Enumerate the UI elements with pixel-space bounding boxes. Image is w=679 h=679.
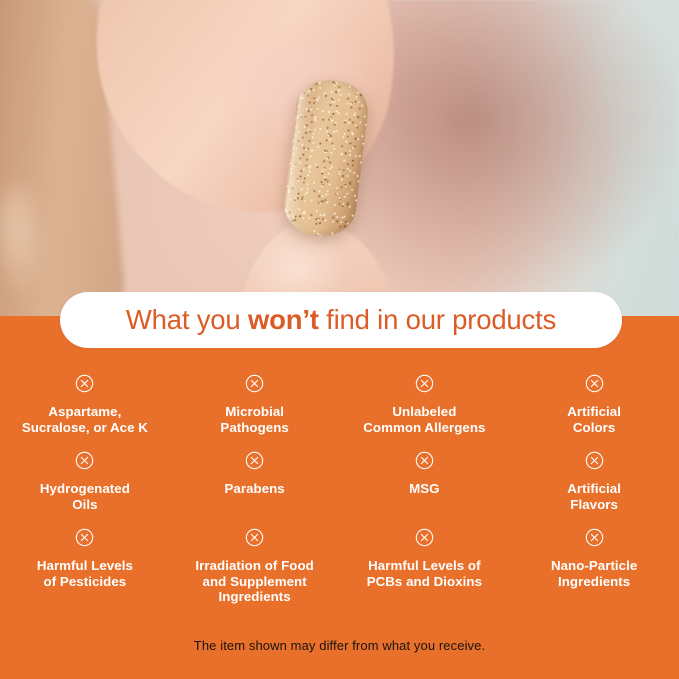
list-item: Hydrogenated Oils <box>0 443 170 512</box>
list-item: Irradiation of Food and Supplement Ingre… <box>170 520 340 605</box>
list-item-label: Aspartame, Sucralose, or Ace K <box>22 404 148 435</box>
page-title: What you won’t find in our products <box>126 304 556 336</box>
list-item: Artificial Colors <box>509 366 679 435</box>
list-item: Unlabeled Common Allergens <box>340 366 510 435</box>
list-item-label: Microbial Pathogens <box>220 404 288 435</box>
circle-x-icon <box>245 451 264 470</box>
circle-x-icon <box>415 528 434 547</box>
headline-emphasis: won’t <box>248 304 319 335</box>
list-item: Harmful Levels of PCBs and Dioxins <box>340 520 510 605</box>
circle-x-icon <box>415 374 434 393</box>
headline-part-1: What you <box>126 304 248 335</box>
list-item: Parabens <box>170 443 340 512</box>
list-item-label: Artificial Flavors <box>567 481 621 512</box>
list-item: Microbial Pathogens <box>170 366 340 435</box>
circle-x-icon <box>245 528 264 547</box>
list-item: Artificial Flavors <box>509 443 679 512</box>
circle-x-icon <box>75 528 94 547</box>
list-item-label: Hydrogenated Oils <box>40 481 130 512</box>
circle-x-icon <box>75 374 94 393</box>
list-item-label: Harmful Levels of Pesticides <box>37 558 133 589</box>
circle-x-icon <box>415 451 434 470</box>
circle-x-icon <box>585 451 604 470</box>
headline-part-2: find in our products <box>319 304 556 335</box>
circle-x-icon <box>75 451 94 470</box>
list-item-label: Artificial Colors <box>567 404 621 435</box>
list-item-label: Nano-Particle Ingredients <box>551 558 637 589</box>
headline-banner: What you won’t find in our products <box>60 292 622 348</box>
list-item-label: Unlabeled Common Allergens <box>363 404 485 435</box>
circle-x-icon <box>585 528 604 547</box>
list-item-label: Parabens <box>224 481 284 497</box>
list-item: MSG <box>340 443 510 512</box>
list-item: Aspartame, Sucralose, or Ace K <box>0 366 170 435</box>
product-photo <box>0 0 679 318</box>
list-item-label: MSG <box>409 481 439 497</box>
circle-x-icon <box>245 374 264 393</box>
list-item-label: Irradiation of Food and Supplement Ingre… <box>195 558 313 605</box>
disclaimer-text: The item shown may differ from what you … <box>0 638 679 653</box>
list-item: Harmful Levels of Pesticides <box>0 520 170 605</box>
exclusions-grid: Aspartame, Sucralose, or Ace K Microbial… <box>0 366 679 605</box>
circle-x-icon <box>585 374 604 393</box>
list-item-label: Harmful Levels of PCBs and Dioxins <box>367 558 482 589</box>
list-item: Nano-Particle Ingredients <box>509 520 679 605</box>
